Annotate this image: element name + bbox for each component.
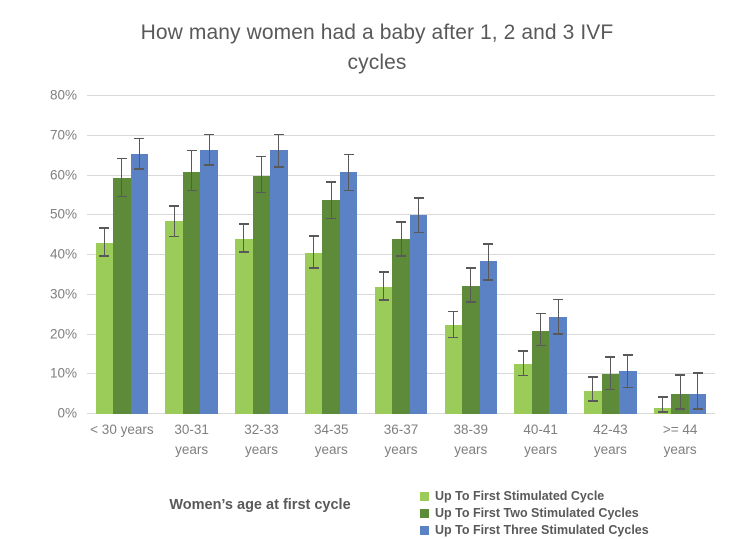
- y-axis-tick-label: 10%: [31, 366, 77, 381]
- error-bar-cap: [99, 227, 109, 229]
- bar-slot: [340, 96, 358, 414]
- error-bar-cap: [187, 150, 197, 152]
- error-bar-cap: [169, 236, 179, 238]
- error-bar: [174, 205, 175, 237]
- bar-slot: [131, 96, 149, 414]
- x-axis-tick-label: 40-41 years: [506, 420, 576, 460]
- error-bar: [488, 243, 489, 281]
- bar[interactable]: [131, 154, 149, 414]
- error-bar-cap: [675, 374, 685, 376]
- bar[interactable]: [410, 215, 428, 414]
- error-bar: [243, 223, 244, 253]
- bar-slot: [270, 96, 288, 414]
- error-bar-cap: [309, 267, 319, 269]
- bar-slot: [514, 96, 532, 414]
- error-bar: [540, 313, 541, 347]
- error-bar: [278, 134, 279, 168]
- chart-title: How many women had a baby after 1, 2 and…: [110, 18, 644, 78]
- error-bar: [610, 356, 611, 390]
- legend-item[interactable]: Up To First Three Stimulated Cycles: [420, 522, 649, 538]
- error-bar-cap: [396, 221, 406, 223]
- bar-slot: [619, 96, 637, 414]
- legend-swatch-icon: [420, 509, 429, 518]
- bar-slot: [480, 96, 498, 414]
- error-bar: [523, 350, 524, 376]
- bar[interactable]: [462, 286, 480, 414]
- bar[interactable]: [165, 221, 183, 414]
- bar-slot: [253, 96, 271, 414]
- y-axis-tick-label: 40%: [31, 247, 77, 262]
- x-axis-title: Women’s age at first cycle: [140, 497, 380, 513]
- y-axis-tick-label: 20%: [31, 326, 77, 341]
- bar-slot: [165, 96, 183, 414]
- error-bar-cap: [309, 235, 319, 237]
- error-bar-cap: [99, 255, 109, 257]
- error-bar: [104, 227, 105, 257]
- bar[interactable]: [480, 261, 498, 414]
- bar-group: [366, 96, 436, 414]
- bar-slot: [602, 96, 620, 414]
- bar-group: [645, 96, 715, 414]
- bar-slot: [305, 96, 323, 414]
- error-bar-cap: [518, 350, 528, 352]
- bar[interactable]: [392, 239, 410, 414]
- bar[interactable]: [270, 150, 288, 414]
- y-axis-tick-label: 30%: [31, 286, 77, 301]
- error-bar: [261, 156, 262, 194]
- legend-label: Up To First Stimulated Cycle: [435, 489, 604, 503]
- y-axis-tick-label: 50%: [31, 207, 77, 222]
- error-bar-cap: [553, 333, 563, 335]
- error-bar: [680, 374, 681, 410]
- error-bar: [662, 396, 663, 413]
- error-bar: [121, 158, 122, 198]
- bar-slot: [200, 96, 218, 414]
- bar-slot: [671, 96, 689, 414]
- x-axis-tick-label: 32-33 years: [227, 420, 297, 460]
- error-bar: [209, 134, 210, 166]
- plot-area: 0%10%20%30%40%50%60%70%80%: [87, 96, 715, 414]
- bar-group: [227, 96, 297, 414]
- error-bar-cap: [256, 192, 266, 194]
- error-bar: [191, 150, 192, 192]
- error-bar-cap: [274, 134, 284, 136]
- error-bar-cap: [623, 354, 633, 356]
- error-bar: [348, 154, 349, 192]
- bar-slot: [549, 96, 567, 414]
- error-bar-cap: [396, 255, 406, 257]
- bar-slot: [654, 96, 672, 414]
- error-bar-cap: [414, 232, 424, 234]
- x-axis-tick-label: 30-31 years: [157, 420, 227, 460]
- error-bar-cap: [448, 311, 458, 313]
- error-bar-cap: [588, 376, 598, 378]
- x-axis-tick-label: 36-37 years: [366, 420, 436, 460]
- legend-swatch-icon: [420, 492, 429, 501]
- error-bar-cap: [553, 299, 563, 301]
- error-bar-cap: [239, 223, 249, 225]
- chart-container: How many women had a baby after 1, 2 and…: [0, 0, 754, 537]
- error-bar-cap: [675, 408, 685, 410]
- bar-groups: [87, 96, 715, 414]
- error-bar-cap: [204, 134, 214, 136]
- error-bar-cap: [187, 190, 197, 192]
- bar[interactable]: [340, 172, 358, 414]
- error-bar-cap: [326, 181, 336, 183]
- legend-item[interactable]: Up To First Stimulated Cycle: [420, 488, 649, 504]
- bar-slot: [392, 96, 410, 414]
- error-bar-cap: [134, 168, 144, 170]
- bar-slot: [322, 96, 340, 414]
- error-bar-cap: [518, 375, 528, 377]
- error-bar: [470, 267, 471, 303]
- bar-group: [157, 96, 227, 414]
- y-axis-tick-label: 60%: [31, 167, 77, 182]
- bar[interactable]: [253, 176, 271, 415]
- bar-group: [436, 96, 506, 414]
- bar[interactable]: [96, 243, 114, 414]
- bar[interactable]: [200, 150, 218, 414]
- bar[interactable]: [375, 287, 393, 414]
- error-bar-cap: [169, 205, 179, 207]
- bar-slot: [96, 96, 114, 414]
- bar-slot: [532, 96, 550, 414]
- error-bar-cap: [588, 400, 598, 402]
- error-bar-cap: [466, 301, 476, 303]
- error-bar-cap: [536, 313, 546, 315]
- bar-slot: [445, 96, 463, 414]
- error-bar: [697, 372, 698, 410]
- error-bar-cap: [536, 345, 546, 347]
- error-bar: [558, 299, 559, 335]
- bar-slot: [235, 96, 253, 414]
- x-axis-tick-label: >= 44 years: [645, 420, 715, 460]
- error-bar-cap: [693, 408, 703, 410]
- error-bar-cap: [693, 372, 703, 374]
- chart-legend: Up To First Stimulated CycleUp To First …: [420, 488, 649, 539]
- error-bar: [331, 181, 332, 219]
- x-axis-tick-labels: < 30 years30-31 years32-33 years34-35 ye…: [87, 420, 715, 460]
- bar[interactable]: [235, 239, 253, 414]
- error-bar-cap: [605, 356, 615, 358]
- error-bar-cap: [134, 138, 144, 140]
- y-axis-tick-label: 0%: [31, 406, 77, 421]
- error-bar-cap: [117, 158, 127, 160]
- bar-slot: [375, 96, 393, 414]
- error-bar-cap: [483, 279, 493, 281]
- legend-label: Up To First Three Stimulated Cycles: [435, 523, 649, 537]
- error-bar: [383, 271, 384, 301]
- x-axis-tick-label: 38-39 years: [436, 420, 506, 460]
- bar-slot: [584, 96, 602, 414]
- bar[interactable]: [445, 325, 463, 414]
- bar[interactable]: [322, 200, 340, 414]
- x-axis-tick-label: 42-43 years: [575, 420, 645, 460]
- error-bar: [418, 197, 419, 233]
- bar-slot: [183, 96, 201, 414]
- error-bar-cap: [344, 154, 354, 156]
- error-bar-cap: [605, 389, 615, 391]
- error-bar-cap: [117, 196, 127, 198]
- bar-group: [506, 96, 576, 414]
- y-axis-tick-label: 80%: [31, 88, 77, 103]
- error-bar-cap: [239, 251, 249, 253]
- error-bar-cap: [414, 197, 424, 199]
- error-bar-cap: [204, 164, 214, 166]
- error-bar-cap: [344, 190, 354, 192]
- x-axis-tick-label: < 30 years: [87, 420, 157, 460]
- legend-label: Up To First Two Stimulated Cycles: [435, 506, 639, 520]
- error-bar-cap: [658, 411, 668, 413]
- error-bar: [627, 354, 628, 388]
- legend-item[interactable]: Up To First Two Stimulated Cycles: [420, 505, 649, 521]
- error-bar: [401, 221, 402, 257]
- error-bar-cap: [256, 156, 266, 158]
- bar-slot: [689, 96, 707, 414]
- error-bar-cap: [274, 166, 284, 168]
- error-bar-cap: [658, 396, 668, 398]
- bar[interactable]: [113, 178, 131, 415]
- error-bar-cap: [623, 387, 633, 389]
- error-bar: [313, 235, 314, 269]
- error-bar-cap: [466, 267, 476, 269]
- error-bar-cap: [483, 243, 493, 245]
- error-bar: [592, 376, 593, 402]
- bar-group: [296, 96, 366, 414]
- error-bar-cap: [379, 271, 389, 273]
- legend-swatch-icon: [420, 526, 429, 535]
- bar-group: [575, 96, 645, 414]
- error-bar-cap: [326, 218, 336, 220]
- bar[interactable]: [305, 253, 323, 414]
- bar-slot: [410, 96, 428, 414]
- error-bar-cap: [448, 337, 458, 339]
- bar-slot: [113, 96, 131, 414]
- bar-slot: [462, 96, 480, 414]
- error-bar-cap: [379, 299, 389, 301]
- y-axis-tick-label: 70%: [31, 127, 77, 142]
- bar-group: [87, 96, 157, 414]
- x-axis-tick-label: 34-35 years: [296, 420, 366, 460]
- error-bar: [453, 311, 454, 339]
- bar[interactable]: [183, 172, 201, 414]
- error-bar: [139, 138, 140, 170]
